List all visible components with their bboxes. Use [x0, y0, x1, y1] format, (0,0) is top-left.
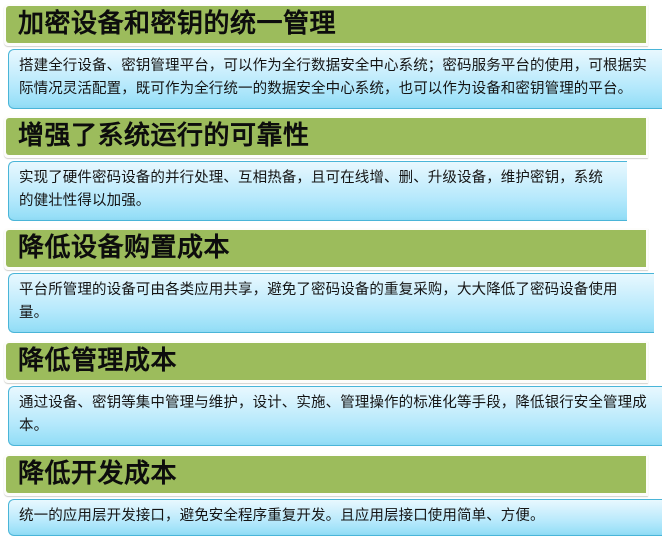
benefit-header-bar-3: 降低设备购置成本: [6, 230, 646, 267]
benefit-block-5: 降低开发成本 统一的应用层开发接口，避免安全程序重复开发。且应用层接口使用简单、…: [0, 454, 662, 536]
benefit-body-text-5: 统一的应用层开发接口，避免安全程序重复开发。且应用层接口使用简单、方便。: [19, 505, 653, 528]
benefit-body-wrap-2: 实现了硬件密码设备的并行处理、互相热备，且可在线增、删、升级设备，维护密钥，系统…: [8, 161, 662, 221]
benefit-body-wrap-3: 平台所管理的设备可由各类应用共享，避免了密码设备的重复采购，大大降低了密码设备使…: [8, 273, 662, 333]
benefit-header-bar-5: 降低开发成本: [6, 456, 646, 493]
benefit-body-box-1: 搭建全行设备、密钥管理平台，可以作为全行数据安全中心系统；密码服务平台的使用，可…: [8, 49, 662, 109]
slide-canvas: 加密设备和密钥的统一管理 搭建全行设备、密钥管理平台，可以作为全行数据安全中心系…: [0, 0, 662, 553]
benefit-header-bar-2: 增强了系统运行的可靠性: [6, 118, 646, 155]
benefit-title-5: 降低开发成本: [18, 458, 177, 490]
benefit-body-text-3: 平台所管理的设备可由各类应用共享，避免了密码设备的重复采购，大大降低了密码设备使…: [19, 279, 644, 325]
benefit-title-4: 降低管理成本: [18, 345, 177, 377]
benefit-block-1: 加密设备和密钥的统一管理 搭建全行设备、密钥管理平台，可以作为全行数据安全中心系…: [0, 4, 662, 109]
benefit-body-box-5: 统一的应用层开发接口，避免安全程序重复开发。且应用层接口使用简单、方便。: [8, 499, 662, 536]
benefit-block-2: 增强了系统运行的可靠性 实现了硬件密码设备的并行处理、互相热备，且可在线增、删、…: [0, 116, 662, 221]
benefit-header-bar-1: 加密设备和密钥的统一管理: [6, 6, 646, 43]
benefit-header-2: 增强了系统运行的可靠性: [4, 116, 648, 158]
benefit-header-bar-4: 降低管理成本: [6, 343, 646, 380]
benefit-block-4: 降低管理成本 通过设备、密钥等集中管理与维护，设计、实施、管理操作的标准化等手段…: [0, 341, 662, 446]
benefit-title-1: 加密设备和密钥的统一管理: [18, 8, 336, 40]
benefit-header-5: 降低开发成本: [4, 454, 648, 496]
benefit-header-1: 加密设备和密钥的统一管理: [4, 4, 648, 46]
benefit-body-box-4: 通过设备、密钥等集中管理与维护，设计、实施、管理操作的标准化等手段，降低银行安全…: [8, 386, 662, 446]
benefit-header-4: 降低管理成本: [4, 341, 648, 383]
benefit-block-3: 降低设备购置成本 平台所管理的设备可由各类应用共享，避免了密码设备的重复采购，大…: [0, 228, 662, 333]
benefit-title-2: 增强了系统运行的可靠性: [18, 120, 310, 152]
benefit-title-3: 降低设备购置成本: [18, 232, 230, 264]
benefit-body-box-2: 实现了硬件密码设备的并行处理、互相热备，且可在线增、删、升级设备，维护密钥，系统…: [8, 161, 627, 221]
benefit-body-box-3: 平台所管理的设备可由各类应用共享，避免了密码设备的重复采购，大大降低了密码设备使…: [8, 273, 654, 333]
benefit-body-text-2: 实现了硬件密码设备的并行处理、互相热备，且可在线增、删、升级设备，维护密钥，系统…: [19, 167, 617, 213]
benefit-body-text-4: 通过设备、密钥等集中管理与维护，设计、实施、管理操作的标准化等手段，降低银行安全…: [19, 392, 653, 438]
benefit-body-wrap-5: 统一的应用层开发接口，避免安全程序重复开发。且应用层接口使用简单、方便。: [8, 499, 662, 536]
benefit-body-text-1: 搭建全行设备、密钥管理平台，可以作为全行数据安全中心系统；密码服务平台的使用，可…: [19, 55, 653, 101]
benefit-header-3: 降低设备购置成本: [4, 228, 648, 270]
benefit-body-wrap-1: 搭建全行设备、密钥管理平台，可以作为全行数据安全中心系统；密码服务平台的使用，可…: [8, 49, 662, 109]
benefit-body-wrap-4: 通过设备、密钥等集中管理与维护，设计、实施、管理操作的标准化等手段，降低银行安全…: [8, 386, 662, 446]
